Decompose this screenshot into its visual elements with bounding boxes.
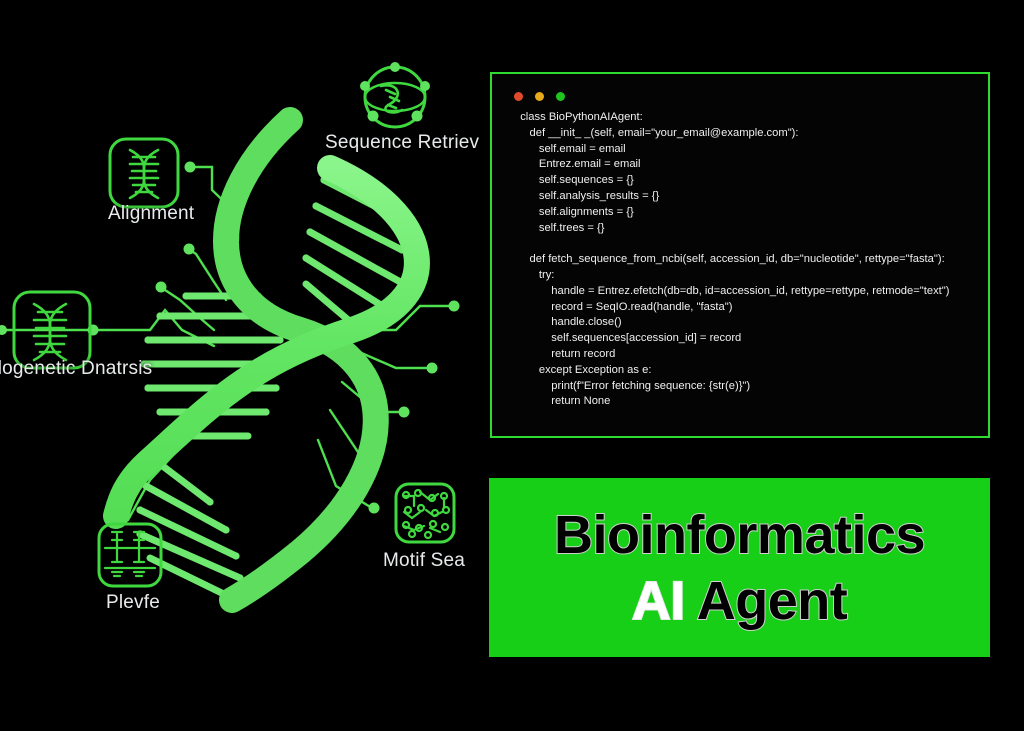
code-line: self.alignments = {} bbox=[514, 205, 980, 221]
code-line: record = SeqIO.read(handle, "fasta") bbox=[514, 300, 980, 316]
code-line: handle.close() bbox=[514, 315, 980, 331]
code-line: return record bbox=[514, 347, 980, 363]
sequence-globe-icon bbox=[360, 62, 430, 127]
maximize-icon[interactable] bbox=[556, 92, 565, 101]
alignment-icon bbox=[110, 139, 178, 207]
node-label-motif-search: Motif Sea bbox=[383, 550, 465, 572]
code-line: def fetch_sequence_from_ncbi(self, acces… bbox=[514, 252, 980, 268]
minimize-icon[interactable] bbox=[535, 92, 544, 101]
code-line: except Exception as e: bbox=[514, 363, 980, 379]
dna-helix-network-illustration: Alignment Sequence Retriev ylogenetic Dn… bbox=[0, 0, 500, 700]
banner-title-agent: Agent bbox=[697, 571, 847, 631]
code-line: return None bbox=[514, 394, 980, 410]
code-line: def __init_ _(self, email="your_email@ex… bbox=[514, 126, 980, 142]
code-line: self.email = email bbox=[514, 142, 980, 158]
node-label-sequence-retrieval: Sequence Retriev bbox=[325, 132, 479, 154]
code-line: class BioPythonAIAgent: bbox=[514, 110, 980, 126]
node-label-phylogenetic: ylogenetic Dnatrsis bbox=[0, 358, 152, 380]
code-line: self.trees = {} bbox=[514, 221, 980, 237]
code-window: class BioPythonAIAgent: def __init_ _(se… bbox=[490, 72, 990, 438]
code-line: self.sequences = {} bbox=[514, 173, 980, 189]
code-line bbox=[514, 236, 980, 252]
banner-title-line-2: AI Agent bbox=[632, 571, 847, 631]
node-label-alignment: Alignment bbox=[108, 203, 194, 225]
banner-title-ai: AI bbox=[632, 571, 685, 631]
code-line: try: bbox=[514, 268, 980, 284]
title-banner: Bioinformatics AI Agent bbox=[489, 478, 990, 657]
code-line: print(f"Error fetching sequence: {str(e)… bbox=[514, 379, 980, 395]
code-block: class BioPythonAIAgent: def __init_ _(se… bbox=[514, 110, 980, 430]
page-root: Alignment Sequence Retriev ylogenetic Dn… bbox=[0, 0, 1024, 731]
code-line: self.analysis_results = {} bbox=[514, 189, 980, 205]
close-icon[interactable] bbox=[514, 92, 523, 101]
node-label-plevfe: Plevfe bbox=[106, 592, 160, 614]
code-line: Entrez.email = email bbox=[514, 157, 980, 173]
dna-double-helix bbox=[116, 120, 417, 600]
banner-title-line-1: Bioinformatics bbox=[554, 505, 925, 565]
code-line: handle = Entrez.efetch(db=db, id=accessi… bbox=[514, 284, 980, 300]
window-controls bbox=[514, 92, 565, 101]
motif-grid-icon bbox=[396, 484, 454, 542]
code-line: self.sequences[accession_id] = record bbox=[514, 331, 980, 347]
